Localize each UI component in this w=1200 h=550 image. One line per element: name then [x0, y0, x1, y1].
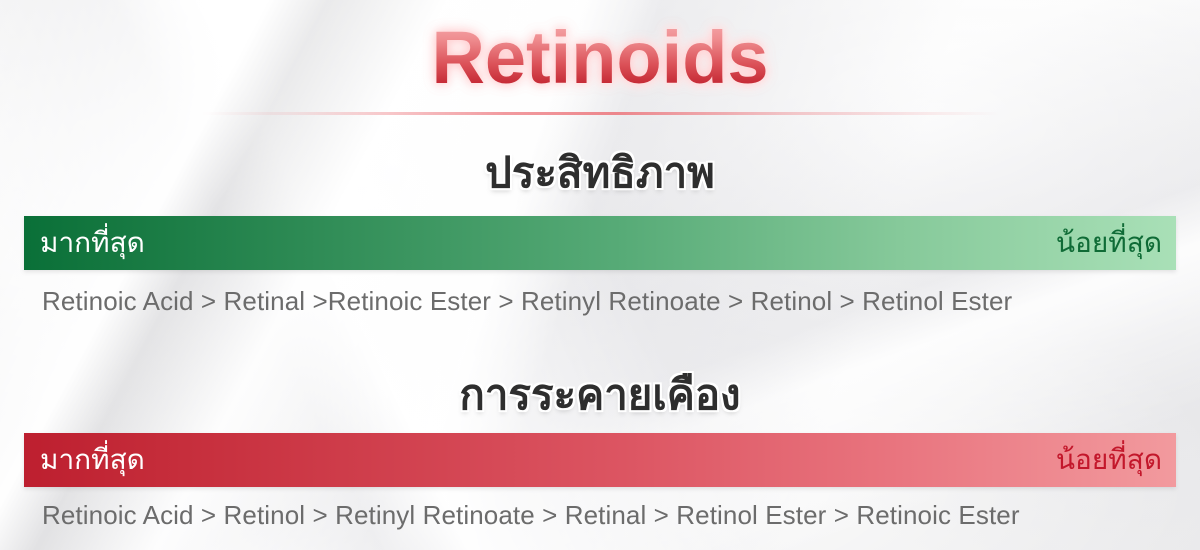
infographic-page: Retinoids ประสิทธิภาพ มากที่สุด น้อยที่ส… — [0, 0, 1200, 550]
irritation-ranking-list: Retinoic Acid > Retinol > Retinyl Retino… — [42, 500, 1162, 531]
efficacy-ranking-list: Retinoic Acid > Retinal >Retinoic Ester … — [42, 286, 1162, 317]
title-block: Retinoids — [0, 18, 1200, 98]
title-divider-rule — [200, 112, 1000, 115]
section-heading-irritation: การระคายเคือง — [0, 372, 1200, 418]
efficacy-scale-label-most: มากที่สุด — [40, 221, 145, 265]
irritation-gradient-scale-bar: มากที่สุด น้อยที่สุด — [24, 433, 1176, 487]
efficacy-scale-label-least: น้อยที่สุด — [1056, 221, 1162, 265]
efficacy-gradient-scale-bar: มากที่สุด น้อยที่สุด — [24, 216, 1176, 270]
page-title: Retinoids — [431, 18, 768, 98]
section-heading-efficacy: ประสิทธิภาพ — [0, 150, 1200, 196]
irritation-scale-label-most: มากที่สุด — [40, 438, 145, 482]
irritation-scale-label-least: น้อยที่สุด — [1056, 438, 1162, 482]
